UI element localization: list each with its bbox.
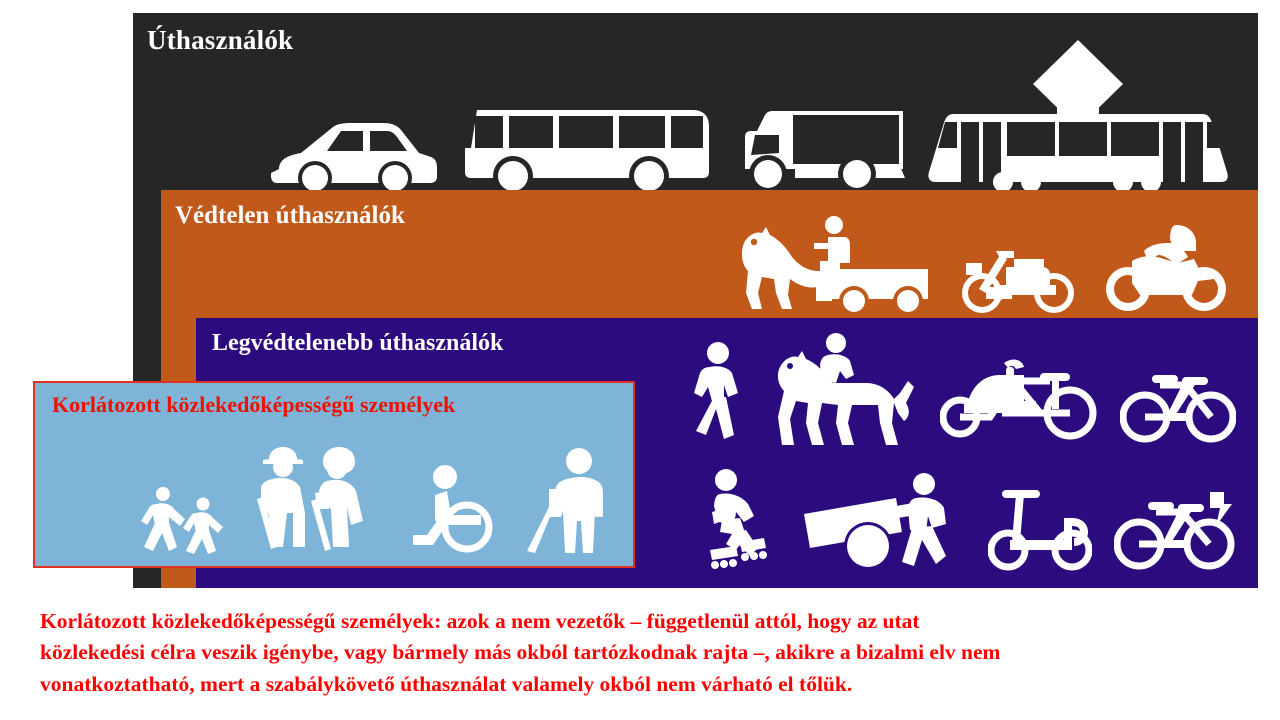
bus-icon — [461, 96, 713, 196]
wheelchair-icon — [411, 461, 497, 555]
road-users-icon-row — [193, 31, 1253, 196]
band-most-vulnerable-users-label: Legvédtelenebb úthasználók — [212, 331, 503, 355]
reduced-mobility-icon-row — [35, 445, 615, 555]
most-vulnerable-icon-row-2 — [706, 456, 1236, 574]
caption-line-1: Korlátozott közlekedőképességű személyek… — [40, 606, 1258, 637]
horse-rider-icon — [774, 331, 920, 447]
band-reduced-mobility: Korlátozott közlekedőképességű személyek — [33, 381, 635, 568]
handcart-icon — [804, 470, 966, 574]
motorcycle-icon — [1106, 221, 1228, 317]
children-icon — [141, 485, 227, 555]
moped-icon — [960, 237, 1078, 317]
truck-icon — [735, 101, 905, 196]
blind-person-icon — [523, 447, 615, 555]
band-vulnerable-users-label: Védtelen úthasználók — [175, 203, 405, 228]
road-user-hierarchy-poster: Úthasználók — [0, 0, 1280, 720]
most-vulnerable-icon-row-1 — [694, 332, 1236, 447]
cargo-bike-icon — [940, 351, 1100, 447]
car-icon — [271, 111, 439, 196]
inline-skater-icon — [706, 466, 782, 574]
e-bike-icon — [1114, 482, 1236, 574]
band-reduced-mobility-label: Korlátozott közlekedőképességű személyek — [52, 394, 455, 416]
kick-scooter-icon — [988, 478, 1092, 574]
tram-icon — [927, 36, 1235, 196]
bicycle-icon — [1120, 363, 1236, 447]
vulnerable-users-icon-row — [732, 202, 1228, 317]
caption-line-3: vonatkoztatható, mert a szabálykövető út… — [40, 669, 1258, 700]
caption-line-2: közlekedési célra veszik igénybe, vagy b… — [40, 637, 1258, 668]
elderly-couple-icon — [253, 443, 385, 555]
caption: Korlátozott közlekedőképességű személyek… — [40, 606, 1258, 700]
pedestrian-icon — [694, 339, 754, 447]
horse-cart-icon — [732, 209, 932, 317]
